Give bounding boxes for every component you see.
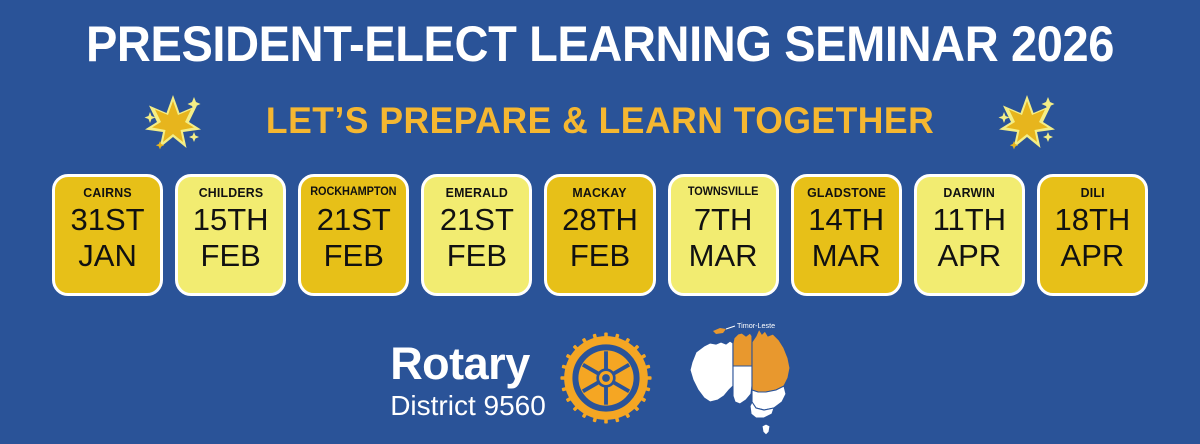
page-title: PRESIDENT-ELECT LEARNING SEMINAR 2026 [36,16,1164,72]
card-month-label: FEB [201,238,261,274]
seminar-date-card-cairns[interactable]: CAIRNS31STJAN [52,174,163,296]
footer: Rotary District 9560 [0,312,1200,444]
timor-leste-label: Timor-Leste [737,321,775,330]
card-day-label: 11TH [933,202,1007,238]
card-day-label: 18TH [1055,202,1131,238]
seminar-date-card-rockhampton[interactable]: ROCKHAMPTON21STFEB [298,174,409,296]
card-city-label: GLADSTONE [807,185,886,200]
seminar-date-card-emerald[interactable]: EMERALD21STFEB [421,174,532,296]
seminar-date-card-row: CAIRNS31STJANCHILDERS15THFEBROCKHAMPTON2… [46,174,1154,296]
card-city-label: MACKAY [573,185,627,200]
seminar-date-card-mackay[interactable]: MACKAY28THFEB [544,174,655,296]
card-day-label: 21ST [440,202,514,238]
card-month-label: FEB [324,238,384,274]
card-city-label: DARWIN [943,185,995,200]
card-month-label: MAR [812,238,881,274]
seminar-date-card-dili[interactable]: DILI18THAPR [1037,174,1148,296]
card-month-label: APR [1061,238,1125,274]
card-month-label: JAN [78,238,137,274]
card-city-label: CHILDERS [198,185,263,200]
card-month-label: APR [937,238,1001,274]
seminar-date-card-childers[interactable]: CHILDERS15THFEB [175,174,286,296]
australia-map-icon: Timor-Leste [680,316,810,440]
card-city-label: DILI [1080,185,1104,200]
subtitle-text: LET’S PREPARE & LEARN TOGETHER [266,100,934,142]
rotary-logo-lockup: Rotary District 9560 [390,332,652,424]
card-city-label: EMERALD [446,185,508,200]
card-day-label: 14TH [808,202,884,238]
card-day-label: 28TH [562,202,638,238]
rotary-wordmark: Rotary District 9560 [390,335,546,422]
card-day-label: 21ST [317,202,391,238]
card-day-label: 7TH [694,202,753,238]
card-month-label: FEB [570,238,630,274]
glowing-star-icon-left [142,92,204,150]
rotary-wheel-icon: ROTARY INTERNATIONAL [560,332,652,424]
glowing-star-icon-right [996,92,1058,150]
card-city-label: ROCKHAMPTON [311,185,397,200]
card-month-label: FEB [447,238,507,274]
rotary-name-text: Rotary [390,339,530,388]
subtitle-row: LET’S PREPARE & LEARN TOGETHER [0,92,1200,150]
rotary-district-text: District 9560 [390,389,546,422]
card-month-label: MAR [689,238,758,274]
seminar-date-card-townsville[interactable]: TOWNSVILLE7THMAR [668,174,779,296]
card-city-label: TOWNSVILLE [688,185,758,200]
card-day-label: 15TH [193,202,269,238]
seminar-date-card-darwin[interactable]: DARWIN11THAPR [914,174,1025,296]
seminar-date-card-gladstone[interactable]: GLADSTONE14THMAR [791,174,902,296]
card-day-label: 31ST [71,202,145,238]
seminar-banner: PRESIDENT-ELECT LEARNING SEMINAR 2026 LE… [0,0,1200,444]
card-city-label: CAIRNS [83,185,131,200]
